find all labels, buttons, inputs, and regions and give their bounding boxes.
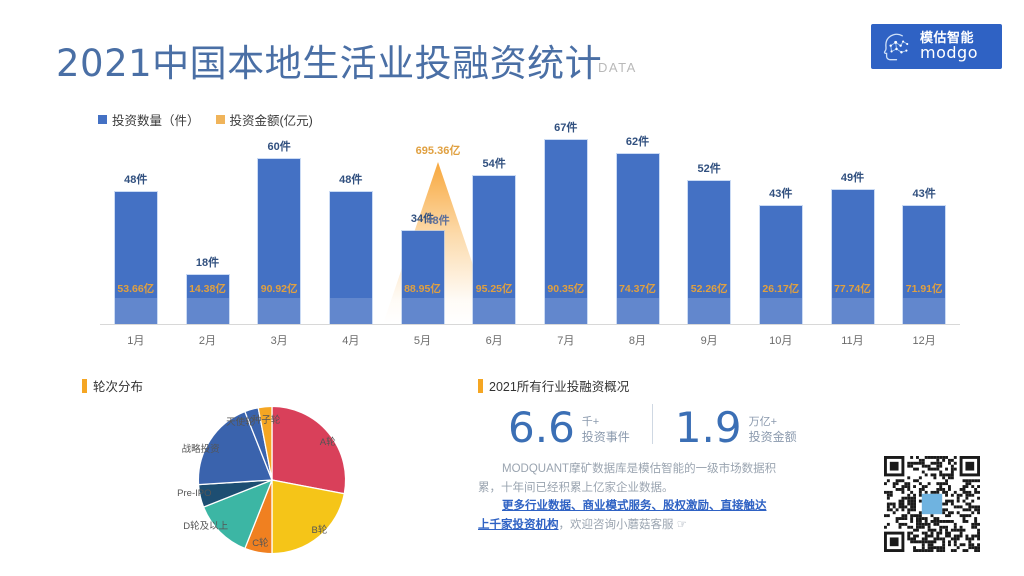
pie-slice-label: B轮 [312, 522, 328, 536]
bar-shade [688, 298, 730, 324]
bar[interactable] [402, 231, 444, 324]
x-axis-tick: 4月 [315, 332, 387, 348]
page-header: 2021中国本地生活业投融资统计 DATA 模估智能 modgo [0, 0, 1024, 95]
bar-count-label: 48件 [315, 171, 387, 187]
qr-code-svg[interactable] [884, 456, 980, 552]
description-line-2: 累，十年间已经积累上亿家企业数据。 [478, 479, 808, 498]
bar-amount-label: 71.91亿 [888, 281, 960, 296]
stat-number: 1.9 [675, 409, 742, 448]
bar-count-label: 43件 [745, 185, 817, 201]
x-axis-tick: 3月 [243, 332, 315, 348]
bar-amount-label: 52.26亿 [673, 281, 745, 296]
pie-heading-text: 轮次分布 [93, 376, 143, 395]
x-axis-tick: 9月 [673, 332, 745, 348]
bar-shade [545, 298, 587, 324]
april-count-label: 48件 [383, 212, 493, 228]
legend-item-count: 投资数量（件） [98, 110, 200, 129]
legend-label-count: 投资数量（件） [112, 110, 200, 129]
industry-overview-section: 2021所有行业投融资概况 6.6 千+ 投资事件 1.9 万亿+ 投资金额 M… [478, 372, 898, 572]
bar-count-label: 43件 [888, 185, 960, 201]
bar-shade [330, 298, 372, 324]
head-circuit-icon [880, 30, 913, 63]
stat-unit-bottom: 投资金额 [749, 430, 797, 445]
bar-shade [473, 298, 515, 324]
bar-group: 52件52.26亿 [673, 132, 745, 324]
bar-group: 54件95.25亿 [458, 132, 530, 324]
stats-heading: 2021所有行业投融资概况 [478, 376, 629, 395]
bar-shade [402, 298, 444, 324]
bar-count-label: 67件 [530, 119, 602, 135]
bar-count-label: 18件 [172, 254, 244, 270]
bar-count-label: 52件 [673, 160, 745, 176]
bar-group: 60件90.92亿 [243, 132, 315, 324]
x-axis-tick: 10月 [745, 332, 817, 348]
description-link-1[interactable]: 更多行业数据、商业模式服务、股权激励、直接触达 [478, 497, 808, 516]
stat-unit-top: 万亿+ [749, 416, 797, 430]
stat-unit-bottom: 投资事件 [582, 430, 630, 445]
stat-divider [652, 404, 653, 444]
bar[interactable] [258, 159, 300, 324]
legend-label-amount: 投资金额(亿元) [230, 110, 313, 129]
bar-shade [760, 298, 802, 324]
description-link-2-text[interactable]: 上千家投资机构 [478, 519, 559, 531]
bar-count-label: 49件 [817, 169, 889, 185]
bar-amount-label: 26.17亿 [745, 281, 817, 296]
bar-shade [187, 298, 229, 324]
pie-slice-label: Pre-IPO [177, 488, 211, 499]
bar-count-label: 48件 [100, 171, 172, 187]
bar-count-label: 62件 [602, 133, 674, 149]
accent-bar-icon [82, 379, 87, 393]
qr-code[interactable] [884, 456, 980, 552]
x-axis-tick: 1月 [100, 332, 172, 348]
stat-unit: 万亿+ 投资金额 [749, 416, 797, 448]
bar-amount-label: 77.74亿 [817, 281, 889, 296]
bar-group: 18件14.38亿 [172, 132, 244, 324]
bar[interactable] [832, 190, 874, 324]
axis-baseline [100, 324, 960, 325]
bar-plot-area: 695.36亿 48件53.66亿18件14.38亿60件90.92亿48件69… [100, 132, 960, 324]
pie-slice[interactable] [272, 406, 346, 493]
bar-group: 34件88.95亿 [387, 132, 459, 324]
bar-amount-label: 95.25亿 [458, 281, 530, 296]
legend-item-amount: 投资金额(亿元) [216, 110, 313, 129]
pie-slice-label: A轮 [320, 434, 336, 448]
logo-text: 模估智能 modgo [920, 31, 978, 61]
bar-group: 48件695.36亿 [315, 132, 387, 324]
page-title: 2021中国本地生活业投融资统计 [56, 33, 602, 87]
stats-heading-text: 2021所有行业投融资概况 [489, 376, 629, 395]
stat-investment-events: 6.6 千+ 投资事件 [508, 409, 630, 448]
pie-heading: 轮次分布 [82, 376, 143, 395]
bar-count-label: 54件 [458, 155, 530, 171]
pie-slice-label: 战略投资 [182, 441, 220, 455]
bar[interactable] [760, 206, 802, 324]
description-line-1: MODQUANT摩矿数据库是模估智能的一级市场数据积 [478, 460, 808, 479]
bar-amount-label: 74.37亿 [602, 281, 674, 296]
pie-slice-label: 天使轮 [226, 414, 255, 428]
x-axis-tick: 11月 [817, 332, 889, 348]
bar[interactable] [330, 192, 372, 324]
bar-chart-legend: 投资数量（件） 投资金额(亿元) [98, 110, 313, 129]
stats-row: 6.6 千+ 投资事件 1.9 万亿+ 投资金额 [508, 404, 797, 448]
bar-amount-label: 88.95亿 [387, 281, 459, 296]
bar[interactable] [473, 176, 515, 324]
stat-unit: 千+ 投资事件 [582, 416, 630, 448]
logo-name-en: modgo [920, 45, 978, 62]
bar[interactable] [617, 154, 659, 324]
bar-group: 67件90.35亿 [530, 132, 602, 324]
bar-shade [258, 298, 300, 324]
bar-group: 49件77.74亿 [817, 132, 889, 324]
bar-group: 62件74.37亿 [602, 132, 674, 324]
description-text: MODQUANT摩矿数据库是模估智能的一级市场数据积 累，十年间已经积累上亿家企… [478, 460, 808, 535]
x-axis-tick: 7月 [530, 332, 602, 348]
bar-group: 48件53.66亿 [100, 132, 172, 324]
x-axis-tick: 8月 [602, 332, 674, 348]
pie-slice-label: 种子轮 [252, 412, 281, 426]
description-line-4-tail: ，欢迎咨询小蘑菇客服 ☞ [559, 519, 688, 531]
description-link-2[interactable]: 上千家投资机构，欢迎咨询小蘑菇客服 ☞ [478, 516, 808, 535]
x-axis-tick: 6月 [458, 332, 530, 348]
pie-chart: A轮B轮C轮D轮及以上Pre-IPO战略投资天使轮种子轮 [192, 400, 352, 560]
square-swatch-icon [98, 115, 107, 124]
bar-count-label: 60件 [243, 138, 315, 154]
pie-slice-label: C轮 [252, 535, 268, 549]
bar-shade [115, 298, 157, 324]
stat-number: 6.6 [508, 409, 575, 448]
description-link-1-text[interactable]: 更多行业数据、商业模式服务、股权激励、直接触达 [502, 500, 767, 512]
bar-group: 43件26.17亿 [745, 132, 817, 324]
pie-slice-label: D轮及以上 [183, 518, 228, 532]
brand-logo: 模估智能 modgo [871, 24, 1002, 69]
bar-shade [832, 298, 874, 324]
bar[interactable] [115, 192, 157, 324]
stat-unit-top: 千+ [582, 416, 630, 430]
bar[interactable] [903, 206, 945, 324]
bar-amount-label: 53.66亿 [100, 281, 172, 296]
bar-chart: 695.36亿 48件53.66亿18件14.38亿60件90.92亿48件69… [100, 132, 960, 352]
square-swatch-icon [216, 115, 225, 124]
bar-group: 43件71.91亿 [888, 132, 960, 324]
bar[interactable] [545, 140, 587, 324]
page-subtitle: DATA [598, 60, 637, 75]
bar-amount-label: 90.35亿 [530, 281, 602, 296]
bar-amount-label: 14.38亿 [172, 281, 244, 296]
round-distribution-section: 轮次分布 A轮B轮C轮D轮及以上Pre-IPO战略投资天使轮种子轮 [60, 372, 460, 572]
x-axis-tick: 12月 [888, 332, 960, 348]
x-axis-tick: 5月 [387, 332, 459, 348]
bar[interactable] [688, 181, 730, 324]
bar-amount-label: 90.92亿 [243, 281, 315, 296]
accent-bar-icon [478, 379, 483, 393]
x-axis-tick: 2月 [172, 332, 244, 348]
x-axis: 1月2月3月4月5月6月7月8月9月10月11月12月 [100, 328, 960, 352]
bar-shade [903, 298, 945, 324]
stat-investment-amount: 1.9 万亿+ 投资金额 [675, 409, 797, 448]
bar-shade [617, 298, 659, 324]
